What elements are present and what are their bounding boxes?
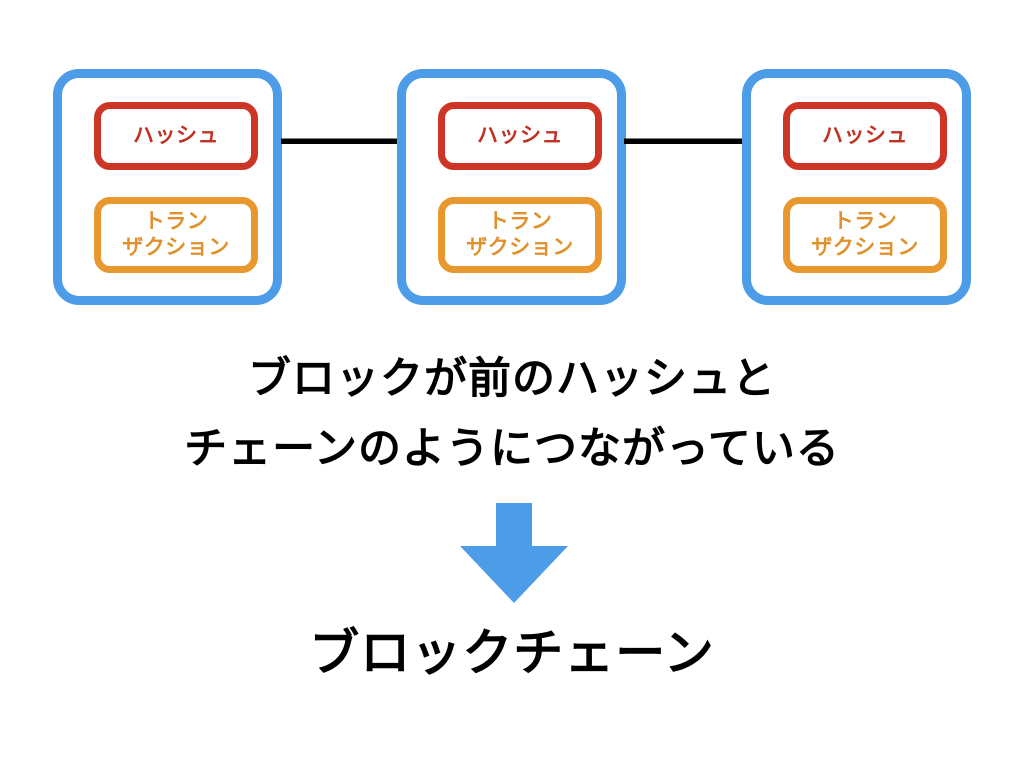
result-label: ブロックチェーン (0, 613, 1024, 685)
down-arrow (460, 503, 568, 603)
caption-line-2: チェーンのようにつながっている (0, 414, 1024, 476)
block-2[interactable]: ハッシュ トラン ザクション (397, 69, 626, 305)
block-1-hash-label: ハッシュ (133, 123, 219, 149)
block-2-transaction-label-line2: ザクション (466, 235, 574, 261)
block-3-hash-label: ハッシュ (822, 123, 908, 149)
block-1-transaction-box[interactable]: トラン ザクション (94, 197, 258, 273)
block-1-transaction-label-line1: トラン (144, 209, 209, 235)
block-1-hash-box[interactable]: ハッシュ (94, 102, 258, 170)
block-2-transaction-label-line1: トラン (488, 209, 553, 235)
block-3-transaction-box[interactable]: トラン ザクション (783, 197, 947, 273)
block-1-transaction-label-line2: ザクション (122, 235, 230, 261)
block-3[interactable]: ハッシュ トラン ザクション (742, 69, 971, 305)
block-2-transaction-box[interactable]: トラン ザクション (438, 197, 602, 273)
caption-line-1: ブロックが前のハッシュと (0, 344, 1024, 406)
diagram-canvas: ハッシュ トラン ザクション ハッシュ トラン ザクション (0, 0, 1024, 768)
arrow-down-icon (460, 503, 568, 603)
block-2-hash-label: ハッシュ (477, 123, 563, 149)
block-3-transaction-label-line2: ザクション (811, 235, 919, 261)
block-3-hash-box[interactable]: ハッシュ (783, 102, 947, 170)
block-2-hash-box[interactable]: ハッシュ (438, 102, 602, 170)
block-3-transaction-label-line1: トラン (833, 209, 898, 235)
blockchain-row: ハッシュ トラン ザクション ハッシュ トラン ザクション (0, 0, 1024, 330)
block-1[interactable]: ハッシュ トラン ザクション (53, 69, 282, 305)
